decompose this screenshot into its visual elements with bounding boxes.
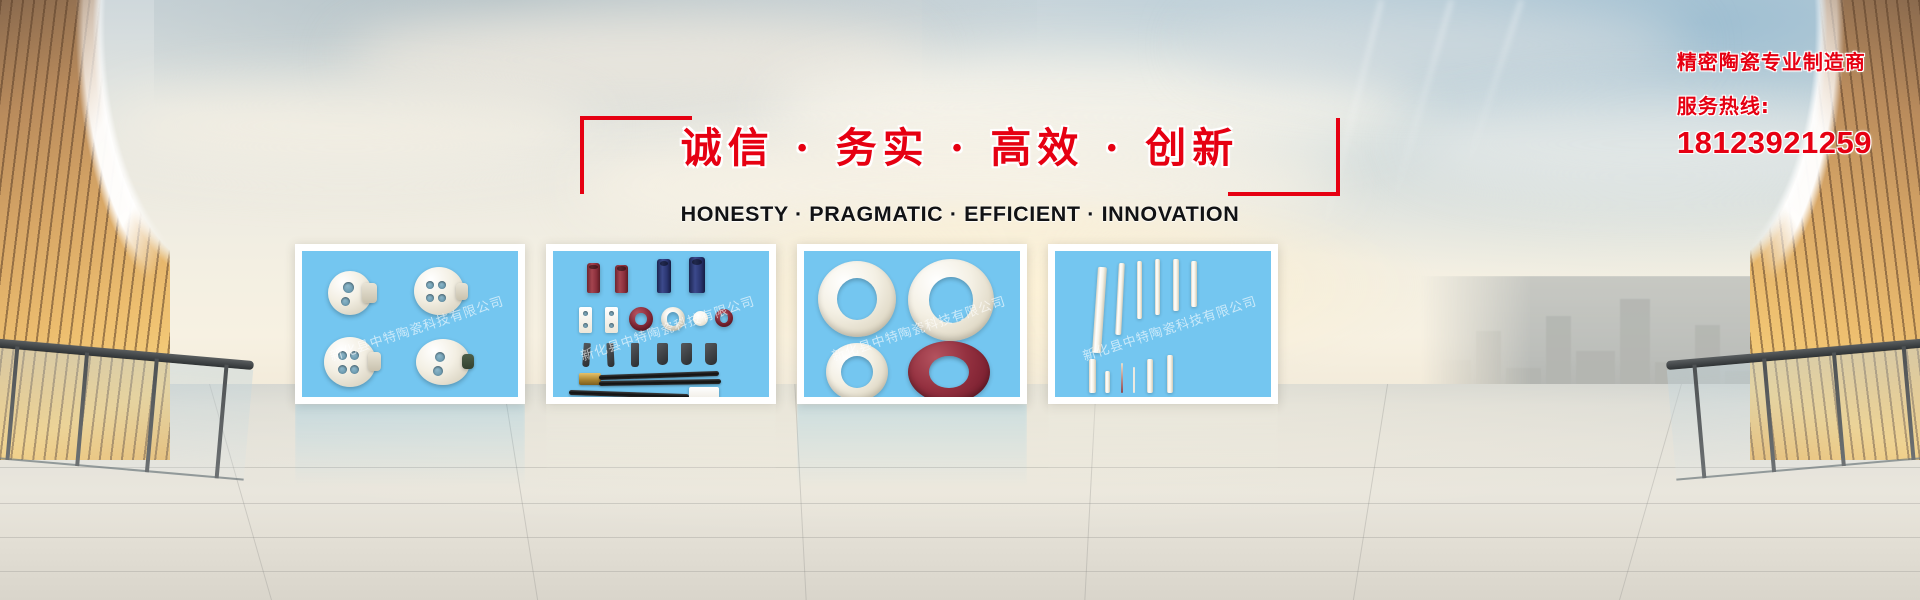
ceramic-socket-a	[328, 271, 372, 315]
ceramic-rod-8	[1105, 371, 1110, 393]
ceramic-pin-5	[681, 343, 692, 365]
ceramic-ring-red-tiny	[715, 309, 733, 327]
product-panel-sockets[interactable]: 新化县中特陶瓷科技有限公司	[295, 244, 525, 404]
ceramic-socket-c	[324, 337, 376, 387]
panel-reflections	[295, 404, 1278, 494]
ceramic-pin-1	[582, 343, 591, 367]
ceramic-socket-d	[416, 339, 470, 385]
panel-reflection-3	[797, 404, 1027, 494]
ceramic-disc-1	[693, 311, 708, 326]
brass-terminal	[579, 373, 601, 385]
ceramic-ring-large-3	[826, 343, 888, 397]
panel-watermark-4: 新化县中特陶瓷科技有限公司	[1055, 279, 1271, 376]
ceramic-rod-1	[1092, 267, 1107, 353]
product-panel-rods[interactable]: 新化县中特陶瓷科技有限公司	[1048, 244, 1278, 404]
ceramic-rod-5	[1173, 259, 1179, 311]
glass-railing-right	[1666, 338, 1920, 481]
ceramic-ring-white-small	[661, 307, 685, 331]
panel-photo-1: 新化县中特陶瓷科技有限公司	[302, 251, 518, 397]
ceramic-tube-blue-1	[657, 259, 671, 293]
ceramic-ring-red-large	[908, 341, 990, 397]
ceramic-rod-2	[1115, 263, 1125, 335]
ceramic-socket-b	[414, 267, 464, 315]
ceramic-plate-1	[579, 307, 592, 333]
ceramic-plate-2	[605, 307, 618, 333]
ceramic-ring-large-1	[818, 261, 896, 337]
panel-photo-4: 新化县中特陶瓷科技有限公司	[1055, 251, 1271, 397]
ceramic-rod-3	[1137, 261, 1142, 319]
panel-reflection-2	[546, 404, 776, 494]
ceramic-pin-3	[631, 343, 639, 367]
ceramic-rod-10	[1167, 355, 1173, 393]
ceramic-ring-large-2	[908, 259, 994, 341]
panel-reflection-1	[295, 404, 525, 494]
product-panel-row: 新化县中特陶瓷科技有限公司	[295, 244, 1278, 404]
ceramic-pin-4	[657, 343, 668, 365]
ceramic-rod-9	[1147, 359, 1153, 393]
wire-lead-2	[599, 379, 721, 386]
product-panel-rings[interactable]: 新化县中特陶瓷科技有限公司	[797, 244, 1027, 404]
ceramic-needle-2	[1133, 367, 1135, 393]
panel-photo-3: 新化县中特陶瓷科技有限公司	[804, 251, 1020, 397]
ceramic-tube-red-1	[587, 263, 600, 293]
panel-photo-2: 新化县中特陶瓷科技有限公司	[553, 251, 769, 397]
ceramic-rod-4	[1155, 259, 1160, 315]
product-panel-components[interactable]: 新化县中特陶瓷科技有限公司	[546, 244, 776, 404]
ceramic-needle-1	[1121, 363, 1123, 393]
ceramic-tube-blue-2	[689, 257, 705, 293]
panel-reflection-4	[1048, 404, 1278, 494]
ceramic-rod-7	[1089, 359, 1096, 393]
ceramic-tube-red-2	[615, 265, 628, 293]
glass-railing-left	[0, 338, 254, 481]
ceramic-rod-6	[1191, 261, 1197, 307]
white-connector	[689, 387, 719, 397]
hero-banner: 诚信 · 务实 · 高效 · 创新 HONESTY · PRAGMATIC · …	[0, 0, 1920, 600]
wire-lead-3	[569, 390, 689, 397]
ceramic-ring-red-small	[629, 307, 653, 331]
ceramic-pin-2	[606, 343, 614, 367]
ceramic-pin-6	[705, 343, 717, 365]
cloud-4	[96, 84, 595, 168]
